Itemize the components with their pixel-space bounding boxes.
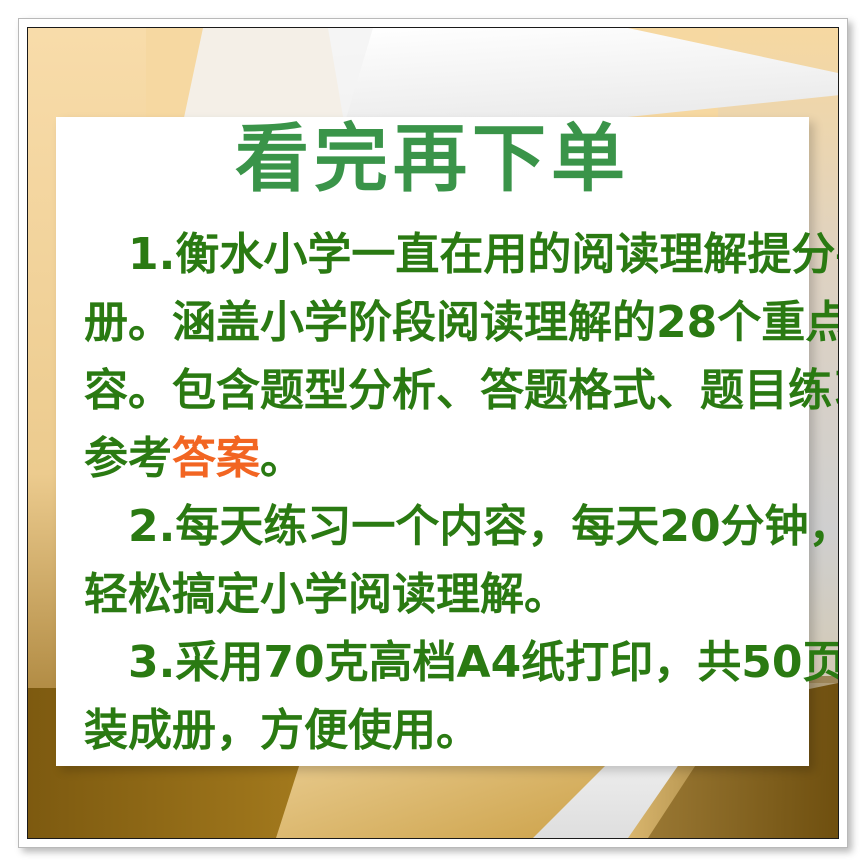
text-line: 容。包含题型分析、答题格式、题目练习和: [84, 357, 784, 425]
list-item: 3.采用70克高档A4纸打印，共50页，胶 装成册，方便使用。: [84, 629, 784, 765]
text-line: 1.衡水小学一直在用的阅读理解提分手: [84, 221, 784, 289]
text-segment: 参考: [84, 433, 172, 484]
text-line: 3.采用70克高档A4纸打印，共50页，胶: [84, 629, 784, 697]
text-line: 参考答案。: [84, 425, 784, 493]
page-title: 看完再下单: [56, 122, 809, 196]
body-copy: 1.衡水小学一直在用的阅读理解提分手 册。涵盖小学阶段阅读理解的28个重点内 容…: [84, 221, 784, 765]
highlighted-answer-text: 答案: [172, 433, 260, 484]
text-segment: 。: [260, 433, 304, 484]
text-line: 2.每天练习一个内容，每天20分钟，28天: [84, 493, 784, 561]
list-item: 2.每天练习一个内容，每天20分钟，28天 轻松搞定小学阅读理解。: [84, 493, 784, 629]
list-item: 1.衡水小学一直在用的阅读理解提分手 册。涵盖小学阶段阅读理解的28个重点内 容…: [84, 221, 784, 493]
poster-frame: 看完再下单 1.衡水小学一直在用的阅读理解提分手 册。涵盖小学阶段阅读理解的28…: [27, 27, 839, 839]
poster-canvas: 看完再下单 1.衡水小学一直在用的阅读理解提分手 册。涵盖小学阶段阅读理解的28…: [0, 0, 868, 868]
text-line: 轻松搞定小学阅读理解。: [84, 561, 784, 629]
text-line: 装成册，方便使用。: [84, 697, 784, 765]
text-line: 册。涵盖小学阶段阅读理解的28个重点内: [84, 289, 784, 357]
content-paper: 看完再下单 1.衡水小学一直在用的阅读理解提分手 册。涵盖小学阶段阅读理解的28…: [56, 117, 809, 766]
